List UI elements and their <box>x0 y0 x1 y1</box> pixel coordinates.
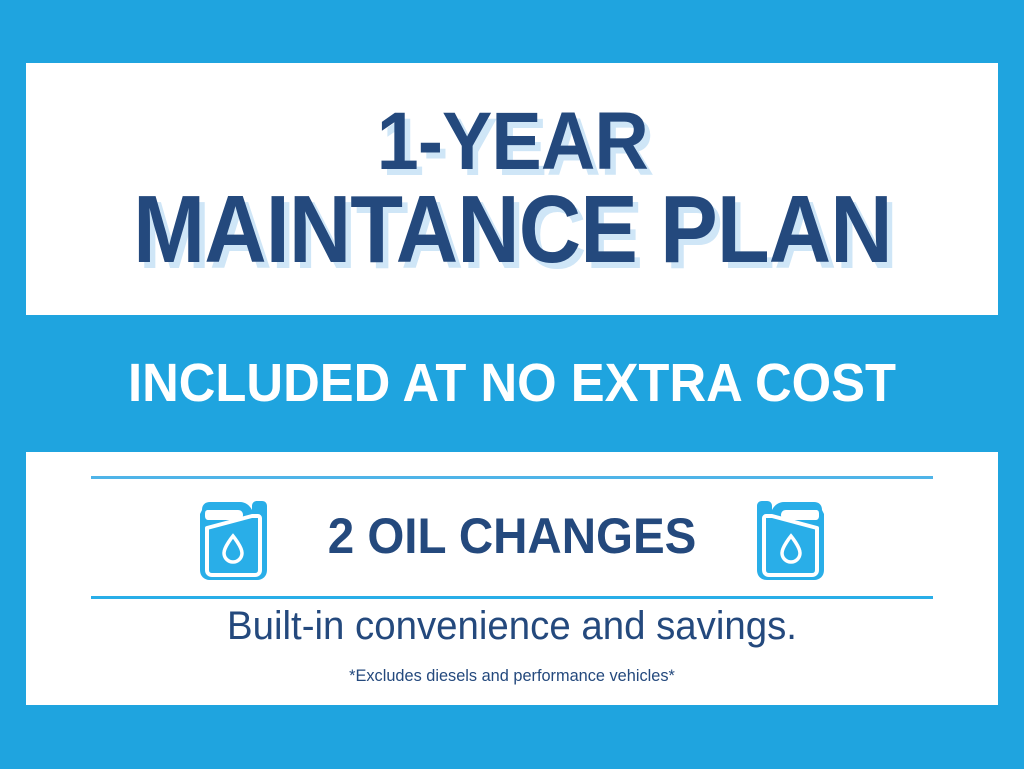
promo-poster: 1-YEAR MAINTANCE PLAN INCLUDED AT NO EXT… <box>0 0 1024 769</box>
divider-bottom <box>91 596 933 599</box>
tagline: Built-in convenience and savings. <box>45 604 978 649</box>
oil-jug-icon-left <box>194 488 272 584</box>
offer-label: 2 OIL CHANGES <box>328 507 697 565</box>
headline-line-1: 1-YEAR <box>376 104 647 179</box>
disclaimer: *Excludes diesels and performance vehicl… <box>45 666 978 686</box>
oil-jug-icon-right <box>752 488 830 584</box>
offer-row: 2 OIL CHANGES <box>26 476 998 596</box>
headline-panel: 1-YEAR MAINTANCE PLAN <box>26 63 998 315</box>
detail-panel: 2 OIL CHANGES Built-in convenience and s… <box>26 452 998 705</box>
headline-line-2: MAINTANCE PLAN <box>133 186 892 274</box>
subtitle-banner: INCLUDED AT NO EXTRA COST <box>31 322 994 444</box>
